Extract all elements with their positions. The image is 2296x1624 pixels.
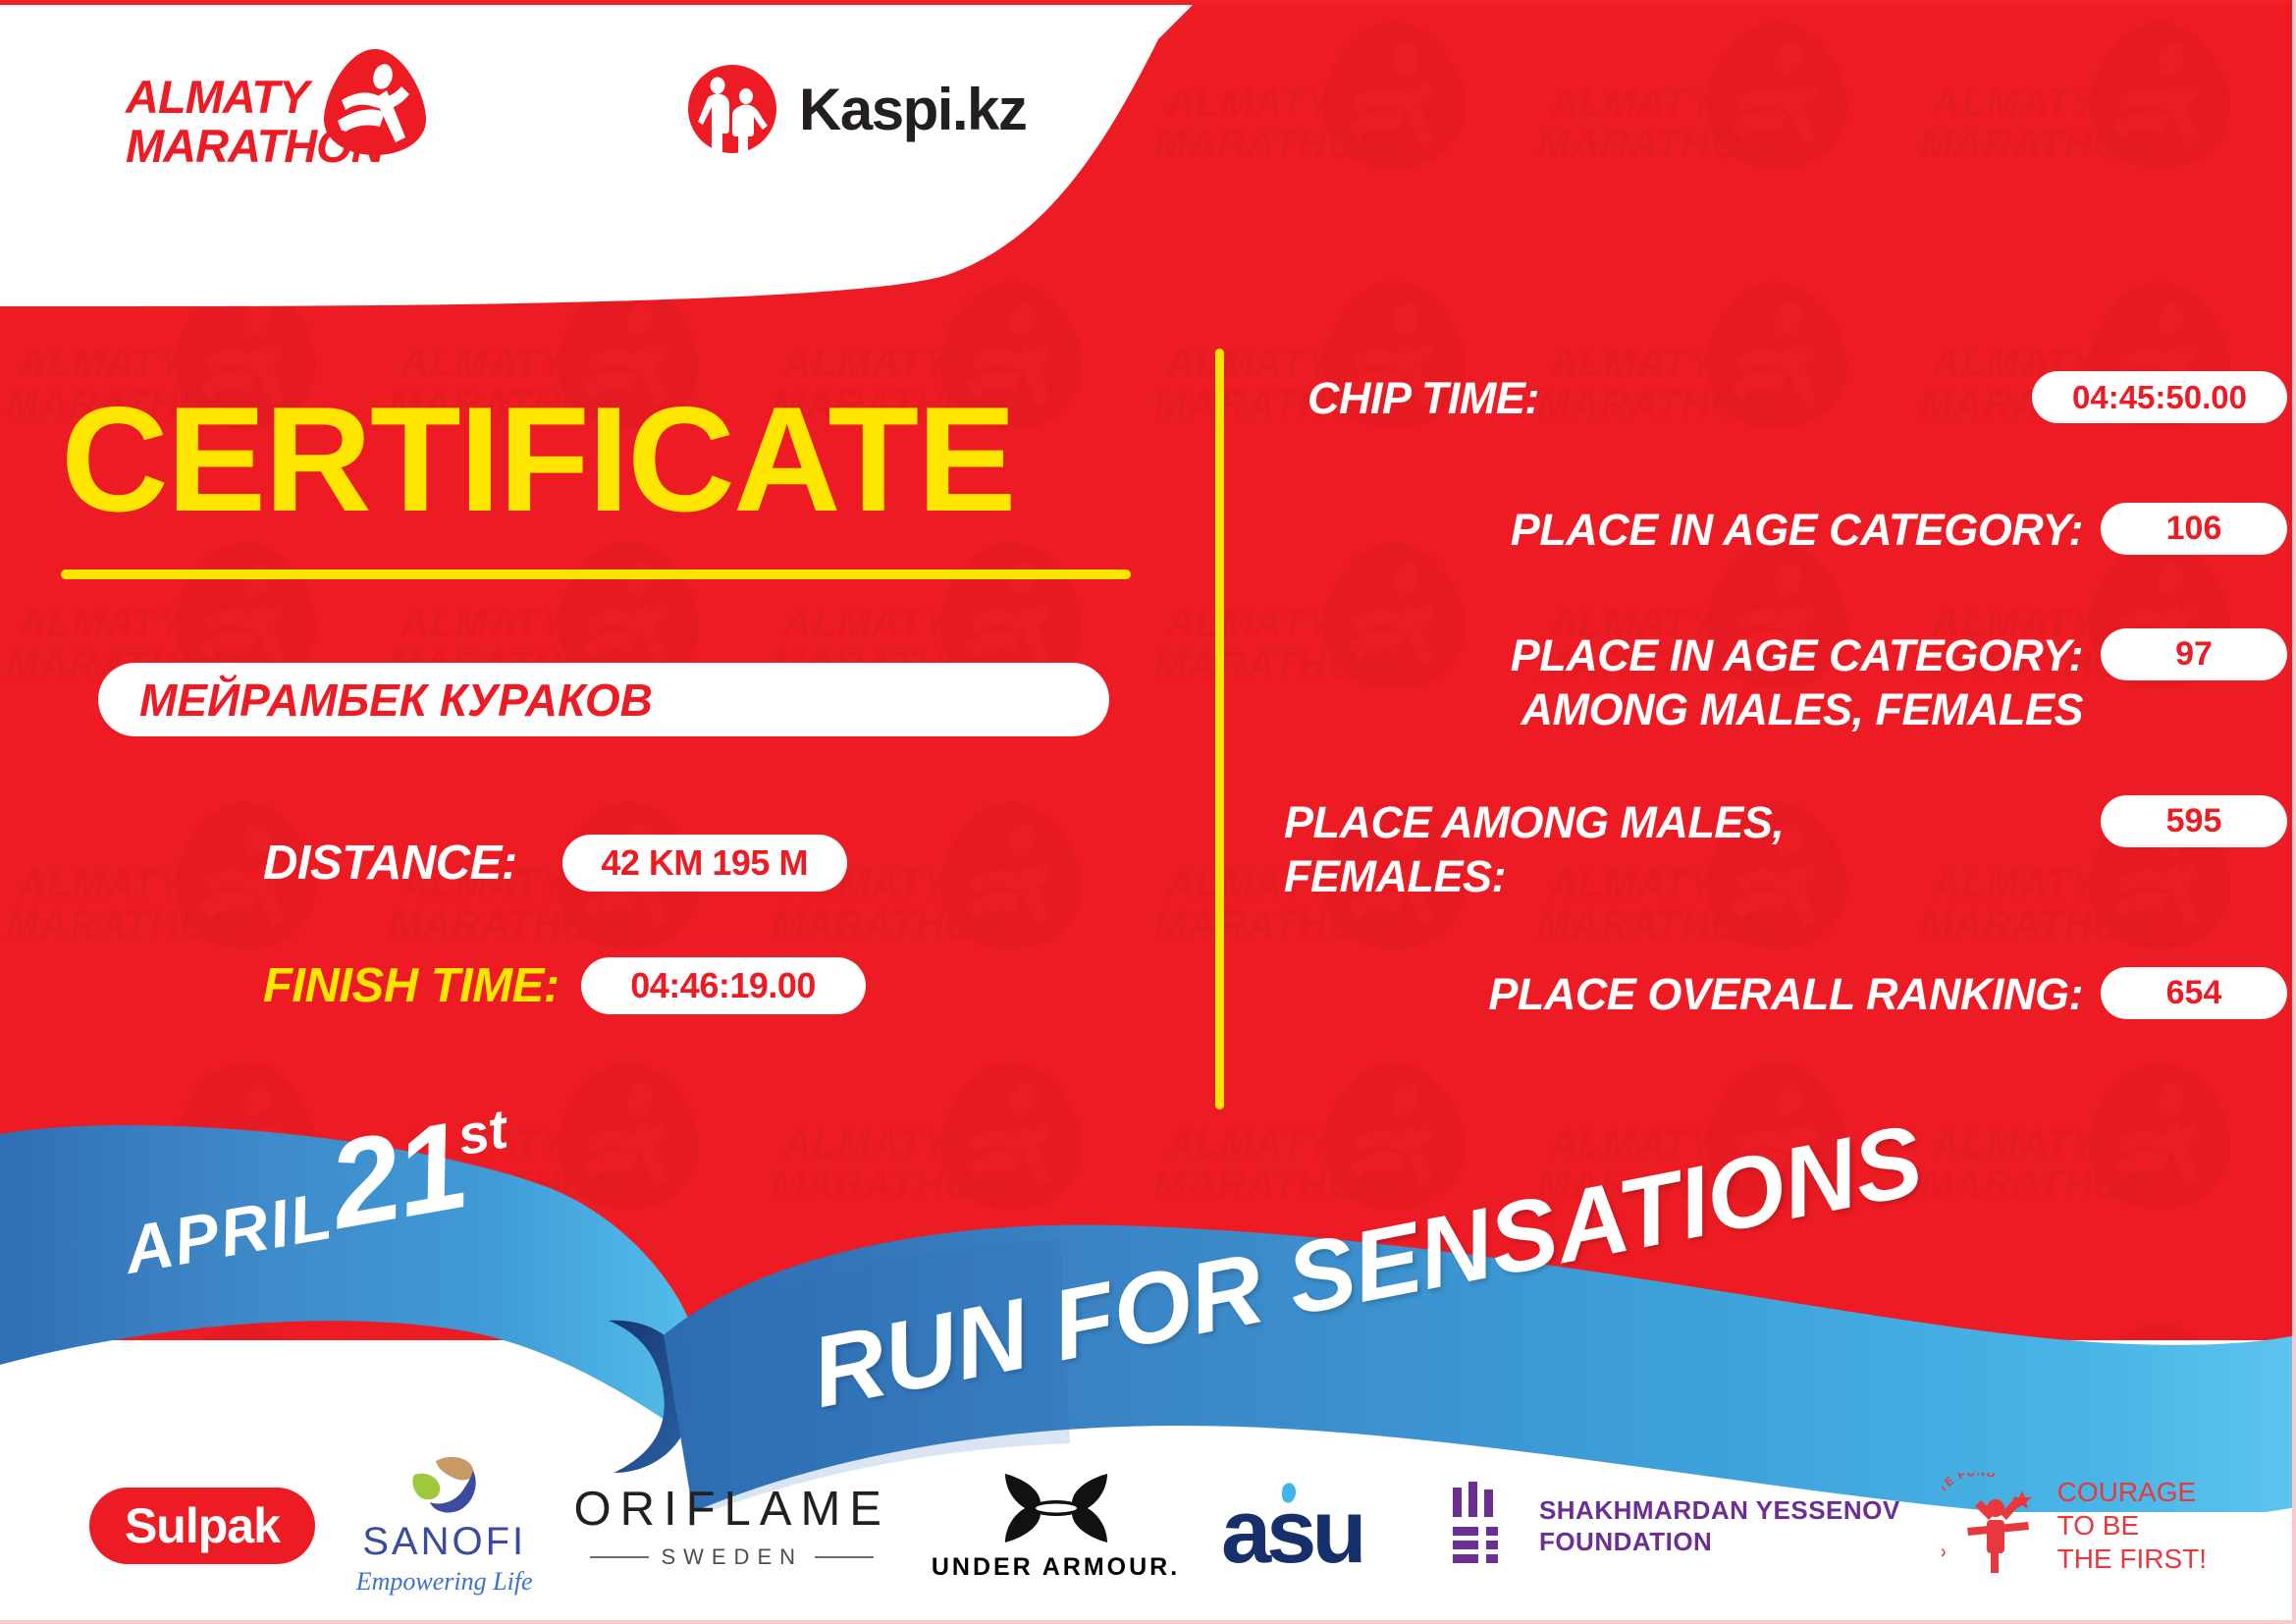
place-age-category-among-row: PLACE IN AGE CATEGORY: AMONG MALES, FEMA…: [1266, 628, 2287, 736]
place-age-category-row: PLACE IN AGE CATEGORY: 106: [1266, 503, 2287, 557]
sponsor-asu: asu: [1221, 1472, 1408, 1580]
courage-line3: THE FIRST!: [2057, 1543, 2207, 1576]
place-among-males-females-label-group: PLACE AMONG MALES, FEMALES:: [1266, 795, 2101, 903]
place-among-males-females-label-line2: FEMALES:: [1284, 849, 2083, 903]
chip-time-value: 04:45:50.00: [2032, 371, 2287, 423]
place-among-males-females-value: 595: [2101, 795, 2287, 847]
sponsor-sulpak: Sulpak: [89, 1488, 315, 1564]
place-age-category-among-value: 97: [2101, 628, 2287, 680]
sponsor-under-armour: UNDER ARMOUR.: [932, 1470, 1180, 1582]
place-age-category-among-label-line1: PLACE IN AGE CATEGORY:: [1266, 628, 2083, 682]
almaty-marathon-logo: ALMATY MARATHON: [126, 47, 410, 180]
oriflame-rule-right: [815, 1556, 874, 1558]
yessenov-bars-icon: [1449, 1482, 1518, 1570]
event-day-suffix: st: [453, 1098, 511, 1167]
under-armour-icon: [997, 1470, 1115, 1546]
certificate-card: ALMATY MARATHON: [0, 0, 2296, 1624]
under-armour-wordmark: UNDER ARMOUR.: [932, 1553, 1180, 1582]
place-age-category-label: PLACE IN AGE CATEGORY:: [1266, 503, 2101, 557]
distance-label: DISTANCE:: [263, 836, 517, 891]
athlete-name-field: МЕЙРАМБЕК КУРАКОВ: [98, 663, 1109, 736]
oriflame-wordmark: ORIFLAME: [573, 1482, 889, 1537]
finish-time-value: 04:46:19.00: [581, 957, 866, 1014]
almaty-marathon-wordmark: ALMATY MARATHON: [126, 73, 371, 171]
athlete-name-value: МЕЙРАМБЕК КУРАКОВ: [139, 674, 653, 727]
title-underline: [61, 569, 1131, 579]
sanofi-bird-icon: [406, 1455, 483, 1516]
sanofi-tagline: Empowering Life: [356, 1567, 533, 1597]
place-age-category-value: 106: [2101, 503, 2287, 555]
sulpak-logo: Sulpak: [89, 1488, 315, 1564]
kaspi-logo: Kaspi.kz: [687, 65, 1026, 153]
yessenov-wordmark: SHAKHMARDAN YESSENOV FOUNDATION: [1539, 1494, 1900, 1558]
distance-row: DISTANCE: 42 KM 195 M: [263, 835, 847, 892]
courage-wordmark: COURAGE TO BE THE FIRST!: [2057, 1476, 2207, 1576]
courage-runner-icon: CORPORATE FUND: [1942, 1473, 2048, 1579]
right-border-line: [2292, 0, 2296, 1624]
right-column: CHIP TIME: 04:45:50.00 PLACE IN AGE CATE…: [1266, 324, 2287, 1110]
finish-time-row: FINISH TIME: 04:46:19.00: [263, 957, 866, 1014]
asu-logo: asu: [1221, 1472, 1408, 1580]
chip-time-row: CHIP TIME: 04:45:50.00: [1266, 371, 2287, 425]
almaty-logo-line1: ALMATY: [126, 73, 371, 122]
place-among-males-females-row: PLACE AMONG MALES, FEMALES: 595: [1266, 795, 2287, 903]
courage-line1: COURAGE: [2057, 1476, 2207, 1509]
place-overall-ranking-row: PLACE OVERALL RANKING: 654: [1266, 967, 2287, 1021]
oriflame-rule-left: [590, 1556, 649, 1558]
place-overall-ranking-value: 654: [2101, 967, 2287, 1019]
yessenov-line1: SHAKHMARDAN YESSENOV: [1539, 1494, 1900, 1527]
svg-text:asu: asu: [1221, 1482, 1362, 1580]
sponsor-oriflame: ORIFLAME SWEDEN: [573, 1482, 889, 1570]
sponsor-strip: Sulpak SANOFI Empowering Life ORIFLAME S…: [0, 1428, 2296, 1624]
place-overall-ranking-label: PLACE OVERALL RANKING:: [1266, 967, 2101, 1021]
kaspi-people-circle-icon: [687, 64, 777, 154]
almaty-logo-line2: MARATHON: [126, 122, 371, 171]
place-age-category-among-label-line2: AMONG MALES, FEMALES: [1266, 682, 2083, 736]
sponsor-courage-to-be-the-first: CORPORATE FUND COURAGE TO BE THE FIRST!: [1942, 1473, 2207, 1579]
oriflame-sub: SWEDEN: [590, 1544, 874, 1570]
page-title: CERTIFICATE: [61, 385, 1015, 534]
finish-time-label: FINISH TIME:: [263, 958, 560, 1013]
place-among-males-females-label-line1: PLACE AMONG MALES,: [1284, 795, 2083, 849]
vertical-divider: [1215, 349, 1224, 1110]
bottom-border-line: [0, 1620, 2296, 1624]
courage-line2: TO BE: [2057, 1509, 2207, 1543]
top-border-line: [0, 0, 2296, 5]
left-column: CERTIFICATE МЕЙРАМБЕК КУРАКОВ DISTANCE: …: [0, 324, 1158, 1110]
chip-time-label: CHIP TIME:: [1266, 371, 2032, 425]
event-day: 21: [319, 1095, 475, 1255]
oriflame-country: SWEDEN: [661, 1544, 803, 1570]
sanofi-wordmark: SANOFI: [362, 1520, 526, 1564]
distance-value: 42 KM 195 M: [562, 835, 847, 892]
sponsor-shakhmardan-yessenov-foundation: SHAKHMARDAN YESSENOV FOUNDATION: [1449, 1482, 1900, 1570]
place-age-category-among-label-group: PLACE IN AGE CATEGORY: AMONG MALES, FEMA…: [1266, 628, 2101, 736]
kaspi-wordmark: Kaspi.kz: [799, 76, 1026, 143]
yessenov-line2: FOUNDATION: [1539, 1526, 1900, 1558]
sponsor-sanofi: SANOFI Empowering Life: [356, 1455, 533, 1597]
